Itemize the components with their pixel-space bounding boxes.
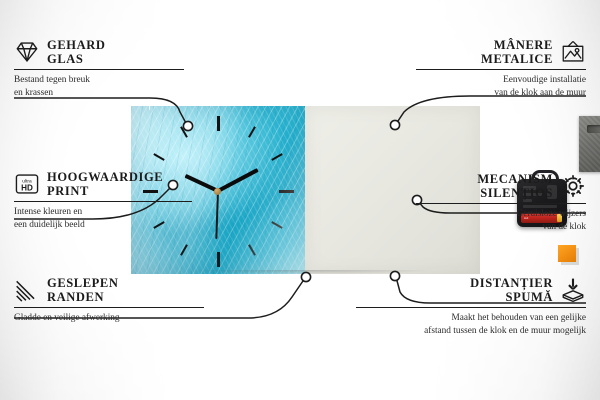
clock-minute-hand [217,168,259,193]
callout-gehard-glas[interactable]: GEHARD GLAS Bestand tegen breuk en krass… [14,38,184,99]
callout-rule [356,307,586,308]
infographic-canvas: AA [0,0,600,400]
sub-line-2: afstand tussen de klok en de muur mogeli… [356,325,586,337]
gear-icon [560,173,586,199]
hanger-slot [587,125,600,133]
sub-line-2: van de klok aan de muur [416,87,586,99]
title-line-2: PRINT [47,184,163,198]
callout-title: GESLEPEN RANDEN [47,276,119,304]
callout-rule [14,201,192,202]
clock-tick [271,153,282,161]
callout-title: MECANISM SILENȚIOS [477,172,553,200]
metal-hanger-plate-icon [579,116,600,172]
sub-line-1: Intense kleuren en [14,206,192,218]
callout-subtitle: Maakt het behouden van een gelijke afsta… [356,312,586,337]
sub-line-2: en krassen [14,87,184,99]
clock-tick [248,126,256,137]
title-line-1: GESLEPEN [47,276,119,290]
clock-tick [153,153,164,161]
callout-title: MÂNERE METALICE [481,38,553,66]
sub-line-1: Geruisloze wijzers [416,208,586,220]
callout-hoogwaardige-print[interactable]: ultra HD HOOGWAARDIGE PRINT Intense kleu… [14,170,192,231]
callout-header: ultra HD HOOGWAARDIGE PRINT [14,170,192,198]
beveled-edges-icon [14,277,40,303]
clock-tick [279,190,294,193]
clock-second-hand [216,191,219,239]
callout-rule [416,203,586,204]
callout-title: HOOGWAARDIGE PRINT [47,170,163,198]
title-line-2: SPUMĂ [470,290,553,304]
callout-subtitle: Geruisloze wijzers van de klok [416,208,586,233]
callout-rule [14,307,204,308]
title-line-1: HOOGWAARDIGE [47,170,163,184]
orange-foam-spacer [558,245,576,262]
diamond-icon [14,39,40,65]
callout-rule [416,69,586,70]
sub-line-1: Eenvoudige installatie [416,74,586,86]
callout-manere-metalice[interactable]: MÂNERE METALICE Eenvoudige installatie v… [416,38,586,99]
sub-line-2: een duidelijk beeld [14,219,192,231]
title-line-2: GLAS [47,52,105,66]
clock-center-cap [214,188,221,195]
title-line-2: SILENȚIOS [477,186,553,200]
title-line-1: DISTANȚIER [470,276,553,290]
callout-subtitle: Eenvoudige installatie van de klok aan d… [416,74,586,99]
svg-text:HD: HD [21,184,33,193]
ultra-hd-icon: ultra HD [14,171,40,197]
callout-header: MECANISM SILENȚIOS [416,172,586,200]
callout-geslepen-randen[interactable]: GESLEPEN RANDEN Gladde en veilige afwerk… [14,276,204,325]
sub-line-1: Maakt het behouden van een gelijke [356,312,586,324]
title-line-1: GEHARD [47,38,105,52]
callout-header: GEHARD GLAS [14,38,184,66]
clock-tick [180,244,188,255]
title-line-1: MECANISM [477,172,553,186]
callout-subtitle: Gladde en veilige afwerking [14,312,204,324]
clock-tick [180,126,188,137]
callout-title: DISTANȚIER SPUMĂ [470,276,553,304]
callout-header: GESLEPEN RANDEN [14,276,204,304]
sub-line-1: Gladde en veilige afwerking [14,312,204,324]
callout-header: DISTANȚIER SPUMĂ [356,276,586,304]
clock-tick [271,221,282,229]
title-line-2: METALICE [481,52,553,66]
callout-mecanism-silentios[interactable]: MECANISM SILENȚIOS Geruisloze wijzers va… [416,172,586,233]
clock-tick [217,252,220,267]
clock-tick [248,244,256,255]
callout-subtitle: Bestand tegen breuk en krassen [14,74,184,99]
picture-frame-hanger-icon [560,39,586,65]
title-line-1: MÂNERE [481,38,553,52]
callout-header: MÂNERE METALICE [416,38,586,66]
clock-tick [217,116,220,131]
title-line-2: RANDEN [47,290,119,304]
spacer-arrow-icon [560,277,586,303]
sub-line-2: van de klok [416,221,586,233]
callout-subtitle: Intense kleuren en een duidelijk beeld [14,206,192,231]
sub-line-1: Bestand tegen breuk [14,74,184,86]
callout-distantier-spuma[interactable]: DISTANȚIER SPUMĂ Maakt het behouden van … [356,276,586,337]
callout-title: GEHARD GLAS [47,38,105,66]
callout-rule [14,69,184,70]
